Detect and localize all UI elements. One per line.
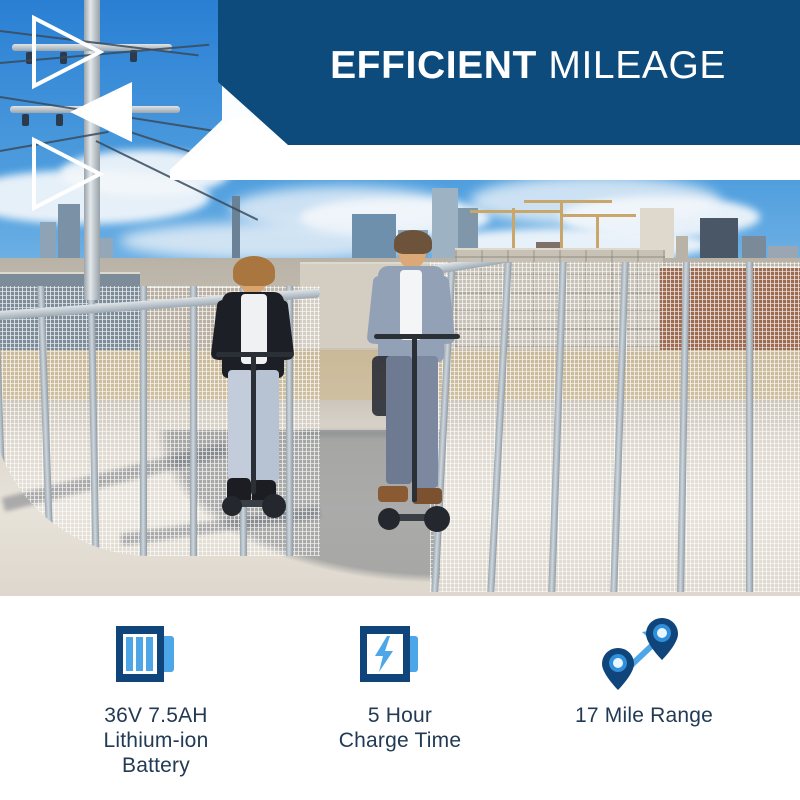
- feature-charge-line2: Charge Time: [339, 729, 461, 754]
- banner-shape: [170, 0, 800, 180]
- feature-battery-line1: 36V 7.5AH: [104, 704, 209, 729]
- feature-battery-label: 36V 7.5AH Lithium-ion Battery: [104, 704, 209, 778]
- feature-range-line1: 17 Mile Range: [575, 704, 713, 729]
- feature-charge-time: 5 Hour Charge Time: [278, 612, 522, 754]
- map-pin-range-arrow-icon: [596, 616, 692, 694]
- feature-charge-label: 5 Hour Charge Time: [339, 704, 461, 754]
- title-light: MILEAGE: [548, 44, 726, 87]
- triangle-outline-right-icon: [34, 140, 100, 208]
- range-icon-wrap: [596, 612, 692, 698]
- map-pin-icon: [646, 618, 678, 660]
- feature-battery-line2: Lithium-ion: [104, 729, 209, 754]
- feature-range-label: 17 Mile Range: [575, 704, 713, 729]
- page-title: EFFICIENT MILEAGE: [330, 46, 726, 85]
- feature-battery: 36V 7.5AH Lithium-ion Battery: [34, 612, 278, 778]
- feature-battery-line3: Battery: [104, 754, 209, 779]
- battery-icon-wrap: [114, 612, 198, 698]
- title-strong: EFFICIENT: [330, 44, 537, 87]
- product-feature-card: EFFICIENT MILEAGE 36V 7.5AH Lithium-ion: [0, 0, 800, 800]
- battery-charging-bolt-icon: [358, 622, 442, 688]
- header-banner: EFFICIENT MILEAGE: [170, 0, 800, 180]
- feature-charge-line1: 5 Hour: [339, 704, 461, 729]
- bridge-railing-right: [430, 262, 800, 592]
- feature-strip: 36V 7.5AH Lithium-ion Battery 5 Hour Cha…: [0, 596, 800, 800]
- battery-icon: [114, 622, 198, 688]
- triangle-solid-left-icon: [70, 82, 132, 142]
- triangle-outline-right-icon: [34, 18, 100, 86]
- map-pin-icon: [602, 648, 634, 690]
- charge-icon-wrap: [358, 612, 442, 698]
- feature-range: 17 Mile Range: [522, 612, 766, 729]
